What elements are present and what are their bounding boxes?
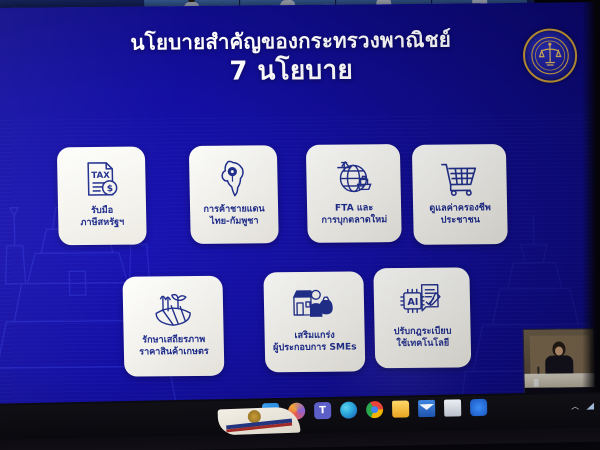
card-agri-price[interactable]: รักษาเสถียรภาพ ราคาสินค้าเกษตร [122,276,224,377]
tax-document-dollar-icon: TAX $ [77,157,126,203]
farm-field-plant-icon [149,286,198,332]
card-label: ปรับกฎระเบียบ ใช้เทคโนโลยี [390,326,456,350]
right-edge-shadow [582,0,600,412]
card-label: เสริมแกร่ง ผู้ประกอบการ SMEs [269,330,361,354]
presentation-slide: นโยบายสำคัญของกระทรวงพาณิชย์ 7 นโยบาย [0,2,600,420]
card-regulation-ai[interactable]: AI ปรับกฎระเบียบ ใช้เทคโนโลยี [373,267,471,368]
card-label: รับมือ ภาษีสหรัฐฯ [76,206,128,229]
google-chrome-icon[interactable] [366,401,383,418]
svg-text:TAX: TAX [91,171,110,181]
microsoft-store-icon[interactable] [444,399,461,416]
laptop-lid-emblem [218,407,301,436]
screenshot-stage: คนที่ ๑ คนที่ ๒ คนที่ ๓ คนที่ ๔ [0,0,600,450]
file-explorer-icon[interactable] [392,400,409,417]
microsoft-teams-icon[interactable]: T [314,402,331,419]
card-fta[interactable]: FTA และ การบุกตลาดใหม่ [306,144,402,243]
system-tray[interactable]: ︿ [571,400,600,412]
card-sme[interactable]: เสริมแกร่ง ผู้ประกอบการ SMEs [263,271,365,372]
card-label: ดูแลค่าครองชีพ ประชาชน [425,203,495,227]
microsoft-edge-icon[interactable] [340,401,357,418]
card-label: การค้าชายแดน ไทย-กัมพูชา [199,204,269,228]
card-border-trade[interactable]: การค้าชายแดน ไทย-กัมพูชา [189,145,279,244]
card-label: รักษาเสถียรภาพ ราคาสินค้าเกษตร [135,335,213,359]
card-label: FTA และ การบุกตลาดใหม่ [317,203,391,227]
ai-chip-document-icon: AI [398,278,447,324]
policy-card-grid: TAX $ รับมือ ภาษีสหรัฐฯ [0,2,600,420]
shopping-cart-icon [435,154,484,200]
blue-app-icon[interactable] [470,399,487,416]
card-cost-of-living[interactable]: ดูแลค่าครองชีพ ประชาชน [412,144,508,245]
thailand-map-pin-icon [209,155,258,201]
shop-moneybag-person-icon [290,282,339,328]
globe-plane-ship-icon [329,154,378,200]
svg-text:AI: AI [407,297,418,308]
network-icon[interactable] [586,403,594,410]
chevron-up-icon[interactable]: ︿ [571,401,579,412]
outlook-mail-icon[interactable] [418,400,435,417]
svg-text:$: $ [107,184,113,194]
card-us-tariff[interactable]: TAX $ รับมือ ภาษีสหรัฐฯ [57,146,147,245]
